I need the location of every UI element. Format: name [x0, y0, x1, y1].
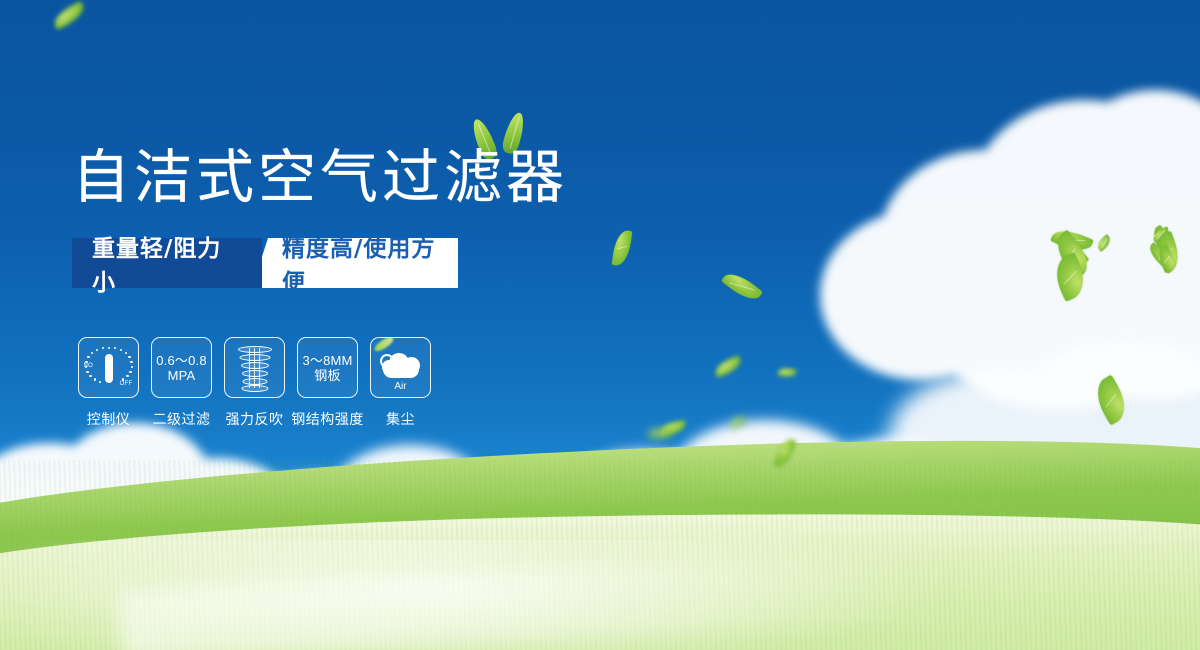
pressure-unit: MPA	[168, 368, 196, 383]
steel-thickness: 3～8MM	[302, 353, 352, 368]
feature-item-steel[interactable]: 3～8MM 钢板 钢结构强度	[297, 337, 358, 429]
pressure-value: 0.6～0.8	[156, 353, 207, 368]
subtitle-left: 重量轻/阻力小	[72, 238, 262, 288]
pressure-text-icon: 0.6～0.8 MPA	[151, 337, 212, 398]
dial-on-label: NO	[84, 363, 94, 369]
steel-material: 钢板	[314, 368, 340, 383]
hero-banner: 自洁式空气过滤器 重量轻/阻力小 精度高/使用方便	[0, 0, 1200, 650]
cloud-graphic: Air	[377, 346, 425, 390]
filter-stack-icon	[224, 337, 285, 398]
leaf-streak-icon	[372, 337, 395, 353]
control-dial-icon: NO OFF	[78, 337, 139, 398]
feature-label: 二级过滤	[153, 409, 211, 429]
dial-off-label: OFF	[120, 381, 133, 387]
leaf-icon	[721, 267, 763, 305]
dial-graphic: NO OFF	[84, 345, 134, 391]
air-cloud-icon: Air	[370, 337, 431, 398]
subtitle-right: 精度高/使用方便	[252, 238, 458, 288]
leaf-icon	[777, 366, 796, 379]
feature-list: NO OFF 控制仪 0.6～0.8 MPA 二级过滤	[78, 337, 431, 429]
leaf-icon	[713, 355, 744, 378]
air-label: Air	[377, 381, 425, 392]
steel-plate-icon: 3～8MM 钢板	[297, 337, 358, 398]
feature-item-dust[interactable]: Air 集尘	[370, 337, 431, 429]
feature-item-pressure[interactable]: 0.6～0.8 MPA 二级过滤	[151, 337, 212, 429]
feature-item-blowback[interactable]: 强力反吹	[224, 337, 285, 429]
grass-field	[0, 420, 1200, 650]
feature-label: 控制仪	[87, 409, 131, 429]
leaf-icon	[50, 1, 87, 30]
feature-label: 集尘	[386, 409, 415, 429]
subtitle-bar: 重量轻/阻力小 精度高/使用方便	[72, 238, 458, 288]
feature-label: 钢结构强度	[291, 409, 364, 429]
leaf-icon	[612, 229, 633, 267]
feature-label: 强力反吹	[226, 409, 284, 429]
feature-item-control[interactable]: NO OFF 控制仪	[78, 337, 139, 429]
stack-graphic	[234, 344, 276, 392]
page-title: 自洁式空气过滤器	[72, 143, 568, 211]
